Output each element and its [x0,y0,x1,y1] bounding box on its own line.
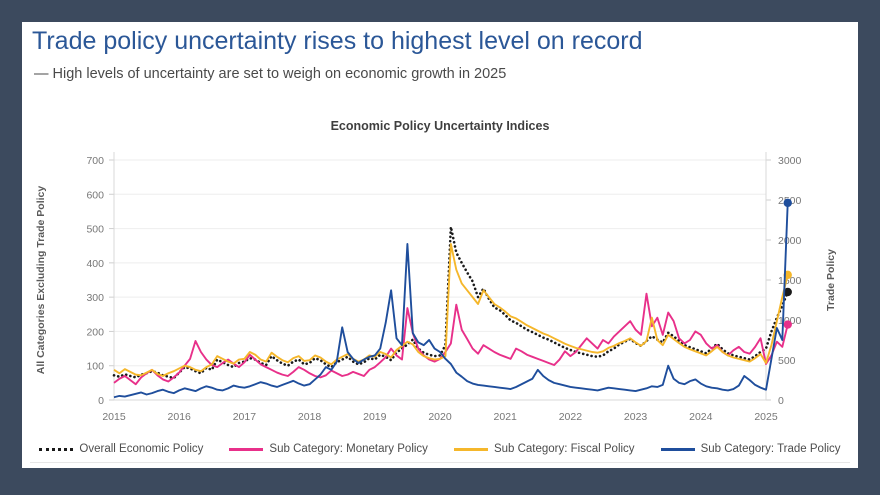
series-line-fiscal [114,244,788,376]
x-axis-tick-label: 2022 [559,411,583,423]
legend-item-2[interactable]: Sub Category: Fiscal Policy [454,443,635,455]
x-axis-tick-label: 2025 [754,411,778,423]
legend-label-1: Sub Category: Monetary Policy [269,443,428,455]
y-axis-title: All Categories Excluding Trade Policy [35,186,47,375]
y-axis-tick-label: 500 [86,224,104,236]
x-axis-tick-label: 2016 [168,411,192,423]
legend-label-0: Overall Economic Policy [79,443,203,455]
legend-label-3: Sub Category: Trade Policy [701,443,841,455]
x-axis-tick-label: 2023 [624,411,648,423]
legend-item-0[interactable]: Overall Economic Policy [39,443,203,455]
y-axis-tick-label: 300 [86,292,104,304]
x-axis-tick-label: 2015 [102,411,126,423]
y-axis-tick-label: 100 [86,361,104,373]
chart-legend: Overall Economic PolicySub Category: Mon… [22,437,858,461]
y-axis-tick-label: 600 [86,189,104,201]
legend-item-3[interactable]: Sub Category: Trade Policy [661,443,841,455]
legend-swatch-0 [39,448,73,451]
x-axis-tick-label: 2019 [363,411,387,423]
series-line-monetary [114,294,788,385]
x-axis-tick-label: 2017 [233,411,257,423]
y2-axis-tick-label: 3000 [778,155,802,167]
chart-plot-area: 0100200300400500600700050010001500200025… [22,130,858,430]
series-endpoint-marker-monetary [784,320,792,328]
legend-swatch-2 [454,448,488,451]
y-axis-tick-label: 0 [98,395,104,407]
y-axis-tick-label: 200 [86,326,104,338]
series-endpoint-marker-trade [784,199,792,207]
y2-axis-title: Trade Policy [825,249,837,311]
legend-item-1[interactable]: Sub Category: Monetary Policy [229,443,428,455]
y-axis-tick-label: 700 [86,155,104,167]
legend-label-2: Sub Category: Fiscal Policy [494,443,635,455]
legend-divider [30,462,850,463]
slide-panel: Trade policy uncertainty rises to highes… [22,22,858,468]
y2-axis-tick-label: 500 [778,355,796,367]
page-title: Trade policy uncertainty rises to highes… [32,27,643,56]
y2-axis-tick-label: 2000 [778,235,802,247]
y-axis-tick-label: 400 [86,258,104,270]
legend-swatch-3 [661,448,695,451]
x-axis-tick-label: 2020 [428,411,452,423]
x-axis-tick-label: 2021 [494,411,518,423]
legend-swatch-1 [229,448,263,451]
x-axis-tick-label: 2024 [689,411,713,423]
x-axis-tick-label: 2018 [298,411,322,423]
page-subtitle: — High levels of uncertainty are set to … [34,66,506,82]
y2-axis-tick-label: 0 [778,395,784,407]
line-chart-svg: 0100200300400500600700050010001500200025… [22,130,858,430]
